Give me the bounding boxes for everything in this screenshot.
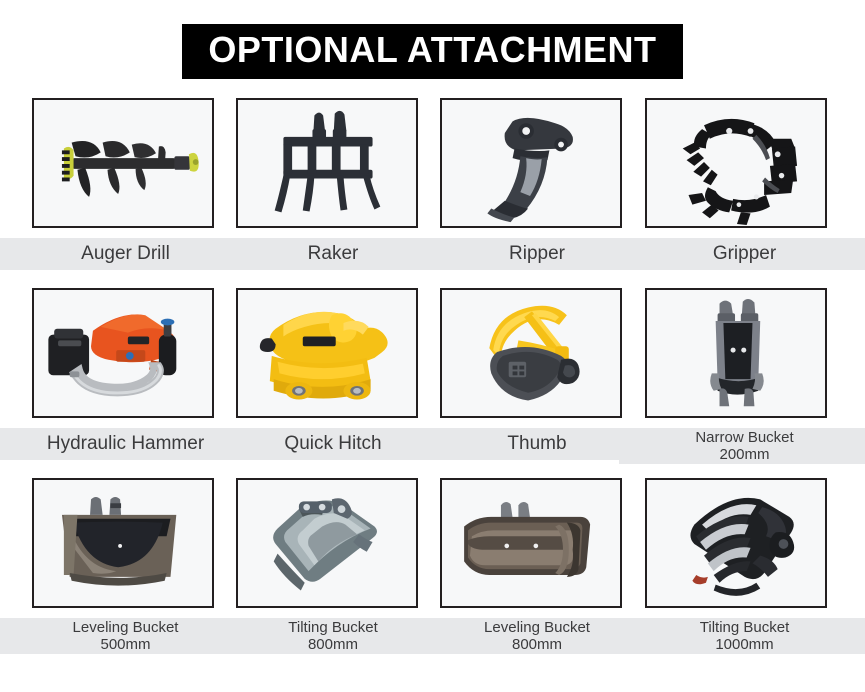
title-bar: OPTIONAL ATTACHMENT xyxy=(182,24,682,79)
attachment-card xyxy=(32,288,214,418)
attachment-label-line1: Leveling Bucket xyxy=(73,619,179,636)
attachment-label-line2: 800mm xyxy=(484,636,590,653)
attachment-label-line1: Tilting Bucket xyxy=(700,619,789,636)
attachment-card xyxy=(440,288,622,418)
attachment-card xyxy=(645,288,827,418)
attachment-label-band: Gripper xyxy=(619,238,865,270)
attachment-label-line2: 200mm xyxy=(695,446,793,463)
attachment-label: Thumb xyxy=(507,433,566,455)
attachment-row: Hydraulic Hammer xyxy=(0,280,865,470)
attachment-label-band: Tilting Bucket 1000mm xyxy=(619,618,865,654)
attachment-label: Leveling Bucket 800mm xyxy=(484,619,590,653)
attachment-cell-narrow-bucket[interactable]: Narrow Bucket 200mm xyxy=(614,280,830,470)
attachment-label: Gripper xyxy=(713,243,776,265)
attachment-label: Ripper xyxy=(509,243,565,265)
attachment-label-line1: Leveling Bucket xyxy=(484,619,590,636)
thumb-image xyxy=(442,290,620,416)
attachment-grid: Auger Drill xyxy=(0,90,865,662)
tilting-bucket-1000-image xyxy=(647,480,825,606)
leveling-bucket-500-image xyxy=(34,480,212,606)
attachment-cell-auger-drill[interactable]: Auger Drill xyxy=(0,90,216,280)
optional-attachment-page: OPTIONAL ATTACHMENT xyxy=(0,0,865,692)
attachment-cell-leveling-bucket-800[interactable]: Leveling Bucket 800mm xyxy=(409,470,625,662)
attachment-card xyxy=(440,98,622,228)
attachment-cell-gripper[interactable]: Gripper xyxy=(614,90,830,280)
leveling-bucket-800-image xyxy=(442,480,620,606)
page-title-banner: OPTIONAL ATTACHMENT xyxy=(0,22,865,80)
attachment-card xyxy=(236,98,418,228)
attachment-label: Auger Drill xyxy=(81,243,170,265)
auger-drill-image xyxy=(34,100,212,226)
attachment-cell-tilting-bucket-1000[interactable]: Tilting Bucket 1000mm xyxy=(614,470,830,662)
narrow-bucket-image xyxy=(647,290,825,416)
attachment-label: Tilting Bucket 800mm xyxy=(288,619,377,653)
attachment-cell-raker[interactable]: Raker xyxy=(205,90,421,280)
attachment-label: Tilting Bucket 1000mm xyxy=(700,619,789,653)
ripper-image xyxy=(442,100,620,226)
gripper-image xyxy=(647,100,825,226)
attachment-row: Leveling Bucket 500mm xyxy=(0,470,865,662)
attachment-card xyxy=(236,478,418,608)
hydraulic-hammer-image xyxy=(34,290,212,416)
attachment-label: Raker xyxy=(308,243,359,265)
attachment-card xyxy=(32,98,214,228)
attachment-label: Hydraulic Hammer xyxy=(47,433,204,455)
attachment-cell-thumb[interactable]: Thumb xyxy=(409,280,625,470)
attachment-label-line1: Tilting Bucket xyxy=(288,619,377,636)
attachment-card xyxy=(32,478,214,608)
attachment-card xyxy=(440,478,622,608)
attachment-row: Auger Drill xyxy=(0,90,865,280)
page-title: OPTIONAL ATTACHMENT xyxy=(208,30,656,70)
attachment-label-band: Narrow Bucket 200mm xyxy=(619,428,865,464)
attachment-label: Leveling Bucket 500mm xyxy=(73,619,179,653)
attachment-label-line2: 800mm xyxy=(288,636,377,653)
attachment-label-line2: 1000mm xyxy=(700,636,789,653)
attachment-label-line1: Narrow Bucket xyxy=(695,429,793,446)
attachment-cell-tilting-bucket-800[interactable]: Tilting Bucket 800mm xyxy=(205,470,421,662)
attachment-label: Quick Hitch xyxy=(284,433,381,455)
attachment-cell-ripper[interactable]: Ripper xyxy=(409,90,625,280)
tilting-bucket-800-image xyxy=(238,480,416,606)
raker-image xyxy=(238,100,416,226)
attachment-cell-leveling-bucket-500[interactable]: Leveling Bucket 500mm xyxy=(0,470,216,662)
attachment-cell-quick-hitch[interactable]: Quick Hitch xyxy=(205,280,421,470)
attachment-label: Narrow Bucket 200mm xyxy=(695,429,793,463)
attachment-label-line2: 500mm xyxy=(73,636,179,653)
attachment-card xyxy=(645,478,827,608)
attachment-card xyxy=(645,98,827,228)
quick-hitch-image xyxy=(238,290,416,416)
attachment-cell-hydraulic-hammer[interactable]: Hydraulic Hammer xyxy=(0,280,216,470)
attachment-card xyxy=(236,288,418,418)
